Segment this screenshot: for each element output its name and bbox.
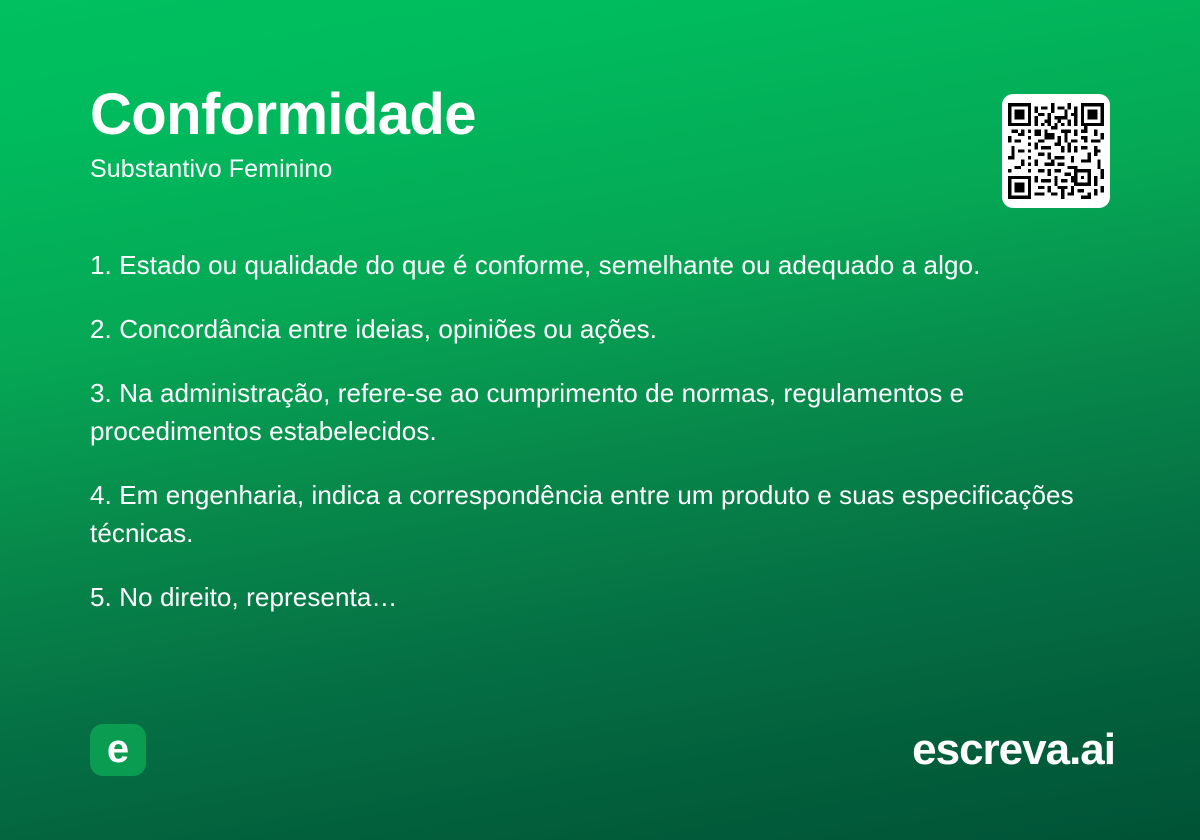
brand-logo-icon: e [90, 724, 146, 776]
qr-code-icon [1008, 101, 1104, 201]
card-header: Conformidade Substantivo Feminino [90, 84, 970, 184]
qr-code[interactable] [1002, 94, 1110, 208]
card-footer: e escreva.ai [90, 722, 1115, 778]
definition-list: 1. Estado ou qualidade do que é conforme… [90, 246, 1100, 616]
definition-item: 4. Em engenharia, indica a correspondênc… [90, 476, 1100, 552]
brand-name: escreva.ai [912, 727, 1115, 773]
page-title: Conformidade [90, 84, 970, 146]
definition-item: 3. Na administração, refere-se ao cumpri… [90, 374, 1100, 450]
word-class-label: Substantivo Feminino [90, 154, 970, 184]
definition-item: 1. Estado ou qualidade do que é conforme… [90, 246, 1100, 284]
definition-item: 2. Concordância entre ideias, opiniões o… [90, 310, 1100, 348]
dictionary-card: Conformidade Substantivo Feminino [0, 0, 1200, 840]
definition-item: 5. No direito, representa… [90, 578, 1100, 616]
brand-logo-letter: e [107, 729, 129, 769]
